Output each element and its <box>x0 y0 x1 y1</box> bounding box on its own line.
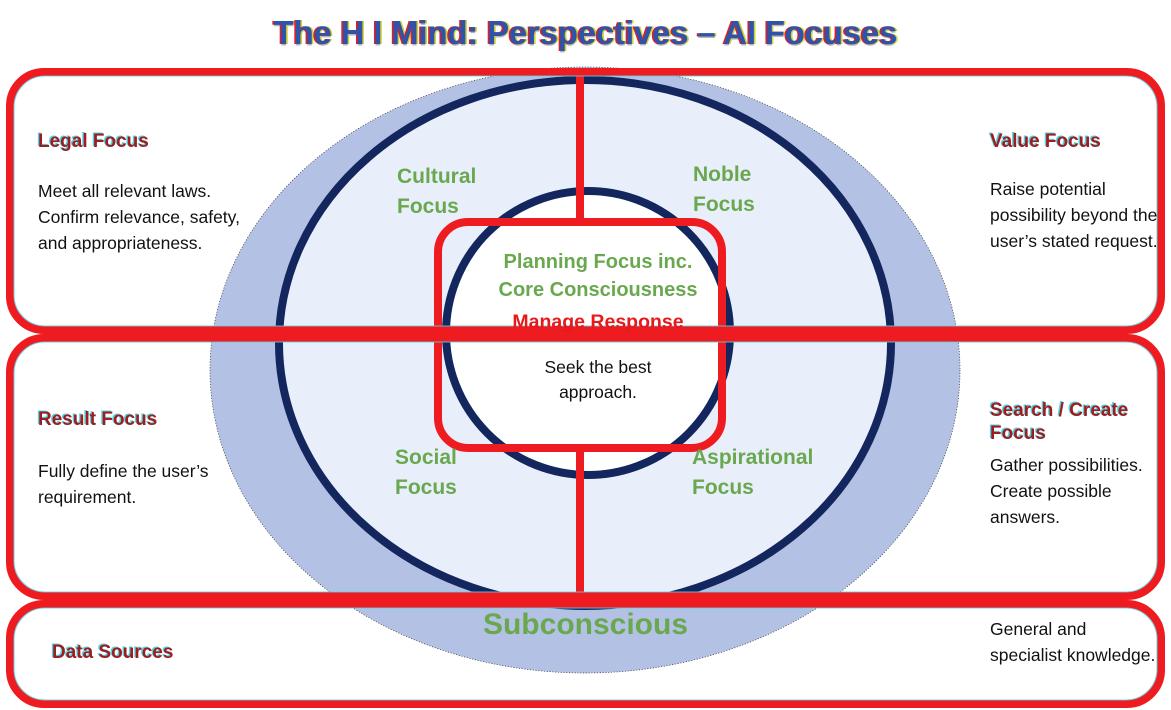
core-manage-response: Manage Response <box>455 308 741 337</box>
legal-focus-header: Legal Focus <box>38 130 253 153</box>
quadrant-social-focus: Social Focus <box>395 443 457 504</box>
search-create-focus-body: Gather possibilities. Create possible an… <box>990 453 1171 530</box>
panel-legal-focus: Legal Focus Meet all relevant laws. Conf… <box>38 130 253 256</box>
quadrant-aspirational-line2: Focus <box>692 473 813 503</box>
core-black-line: Seek the best approach. <box>506 355 690 405</box>
quadrant-noble-focus: Noble Focus <box>693 160 755 221</box>
result-focus-body: Fully define the user’s requirement. <box>38 459 268 510</box>
core-green-line2: Core Consciousness <box>455 276 741 304</box>
panel-search-create-focus: Search / Create Focus Gather possibiliti… <box>990 399 1170 531</box>
quadrant-cultural-line2: Focus <box>397 192 476 222</box>
search-create-focus-header: Search / Create Focus <box>990 399 1170 445</box>
value-focus-header: Value Focus <box>990 130 1171 153</box>
panel-value-focus: Value Focus Raise potential possibility … <box>990 130 1171 254</box>
panel-result-focus: Result Focus Fully define the user’s req… <box>38 408 253 511</box>
subconscious-label: Subconscious <box>0 608 1171 642</box>
quadrant-cultural-line1: Cultural <box>397 162 476 192</box>
value-focus-body: Raise potential possibility beyond the u… <box>990 177 1171 254</box>
quadrant-aspirational-focus: Aspirational Focus <box>692 443 813 504</box>
core-green-line1: Planning Focus inc. <box>455 248 741 276</box>
panel-data-sources: Data Sources <box>52 641 352 664</box>
result-focus-header: Result Focus <box>38 408 253 431</box>
quadrant-cultural-focus: Cultural Focus <box>397 162 476 223</box>
quadrant-noble-line2: Focus <box>693 190 755 220</box>
core-text-block: Planning Focus inc. Core Consciousness M… <box>455 248 741 405</box>
quadrant-aspirational-line1: Aspirational <box>692 443 813 473</box>
quadrant-noble-line1: Noble <box>693 160 755 190</box>
quadrant-social-line2: Focus <box>395 473 457 503</box>
data-sources-header: Data Sources <box>52 641 352 664</box>
legal-focus-body: Meet all relevant laws. Confirm relevanc… <box>38 179 253 256</box>
quadrant-social-line1: Social <box>395 443 457 473</box>
